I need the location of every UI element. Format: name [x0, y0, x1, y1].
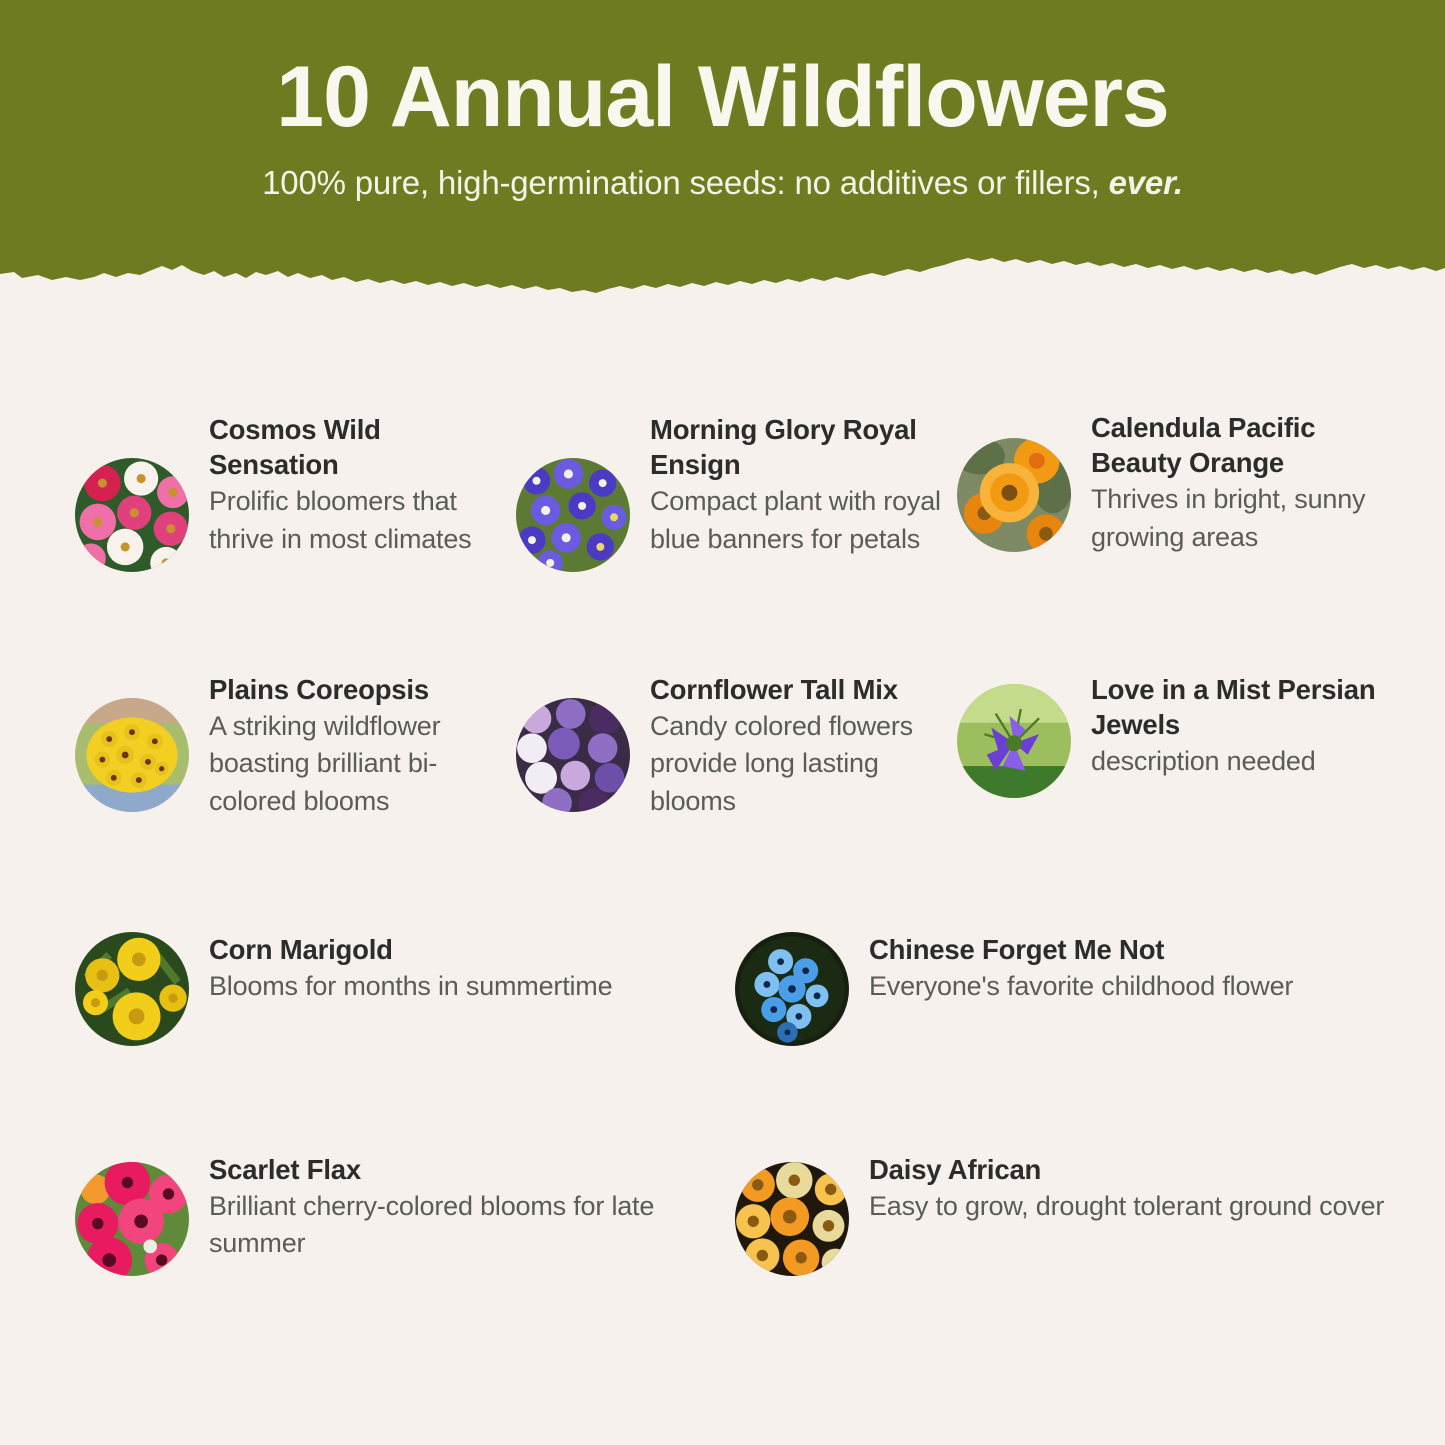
item-description: Candy colored flowers provide long lasti… — [650, 708, 957, 820]
list-item-text: Corn Marigold Blooms for months in summe… — [189, 930, 612, 1005]
list-item-text: Calendula Pacific Beauty Orange Thrives … — [1071, 410, 1398, 556]
page-title: 10 Annual Wildflowers — [0, 52, 1445, 142]
list-item[interactable]: Cosmos Wild Sensation Prolific bloomers … — [75, 410, 516, 572]
wildflower-row-4: Scarlet Flax Brilliant cherry-colored bl… — [0, 1150, 1445, 1276]
corn-marigold-photo — [75, 932, 189, 1046]
wildflower-row-1: Cosmos Wild Sensation Prolific bloomers … — [0, 410, 1445, 572]
header-banner-content: 10 Annual Wildflowers 100% pure, high-ge… — [0, 0, 1445, 202]
item-description: Everyone's favorite childhood flower — [869, 968, 1293, 1005]
item-name: Love in a Mist Persian Jewels — [1091, 672, 1398, 742]
plains-coreopsis-photo — [75, 698, 189, 812]
wildflower-list: Cosmos Wild Sensation Prolific bloomers … — [0, 300, 1445, 1445]
list-item-text: Love in a Mist Persian Jewels descriptio… — [1071, 670, 1398, 781]
page-subtitle: 100% pure, high-germination seeds: no ad… — [0, 164, 1445, 202]
item-name: Calendula Pacific Beauty Orange — [1091, 410, 1398, 480]
chinese-forget-me-not-photo — [735, 932, 849, 1046]
calendula-pacific-beauty-orange-photo — [957, 438, 1071, 552]
list-item-text: Chinese Forget Me Not Everyone's favorit… — [849, 930, 1293, 1005]
list-item-text: Plains Coreopsis A striking wildflower b… — [189, 670, 516, 820]
item-description: Blooms for months in summertime — [209, 968, 612, 1005]
header-banner: 10 Annual Wildflowers 100% pure, high-ge… — [0, 0, 1445, 300]
torn-paper-edge-divider — [0, 244, 1445, 300]
list-item-text: Cornflower Tall Mix Candy colored flower… — [630, 670, 957, 820]
item-name: Cornflower Tall Mix — [650, 672, 957, 707]
item-description: Prolific bloomers that thrive in most cl… — [209, 483, 516, 558]
item-description: Compact plant with royal blue banners fo… — [650, 483, 957, 558]
item-name: Morning Glory Royal Ensign — [650, 412, 957, 482]
list-item[interactable]: Daisy African Easy to grow, drought tole… — [735, 1150, 1395, 1276]
item-name: Chinese Forget Me Not — [869, 932, 1293, 967]
wildflower-row-2: Plains Coreopsis A striking wildflower b… — [0, 670, 1445, 820]
item-description: Thrives in bright, sunny growing areas — [1091, 481, 1398, 556]
list-item[interactable]: Morning Glory Royal Ensign Compact plant… — [516, 410, 957, 572]
list-item[interactable]: Plains Coreopsis A striking wildflower b… — [75, 670, 516, 820]
item-name: Scarlet Flax — [209, 1152, 735, 1187]
page-subtitle-emphasis: ever. — [1109, 164, 1183, 201]
list-item-text: Cosmos Wild Sensation Prolific bloomers … — [189, 410, 516, 558]
item-description: Easy to grow, drought tolerant ground co… — [869, 1188, 1384, 1225]
list-item[interactable]: Corn Marigold Blooms for months in summe… — [75, 930, 735, 1046]
list-item-text: Scarlet Flax Brilliant cherry-colored bl… — [189, 1150, 735, 1263]
morning-glory-royal-ensign-photo — [516, 458, 630, 572]
list-item[interactable]: Cornflower Tall Mix Candy colored flower… — [516, 670, 957, 820]
list-item[interactable]: Calendula Pacific Beauty Orange Thrives … — [957, 410, 1398, 572]
list-item[interactable]: Scarlet Flax Brilliant cherry-colored bl… — [75, 1150, 735, 1276]
daisy-african-photo — [735, 1162, 849, 1276]
scarlet-flax-photo — [75, 1162, 189, 1276]
love-in-a-mist-persian-jewels-photo — [957, 684, 1071, 798]
item-description: A striking wildflower boasting brilliant… — [209, 708, 516, 820]
list-item-text: Morning Glory Royal Ensign Compact plant… — [630, 410, 957, 558]
page-subtitle-text: 100% pure, high-germination seeds: no ad… — [262, 164, 1108, 201]
cosmos-wild-sensation-photo — [75, 458, 189, 572]
cornflower-tall-mix-photo — [516, 698, 630, 812]
item-name: Cosmos Wild Sensation — [209, 412, 516, 482]
item-name: Plains Coreopsis — [209, 672, 516, 707]
item-name: Corn Marigold — [209, 932, 612, 967]
item-description: Brilliant cherry-colored blooms for late… — [209, 1188, 735, 1263]
wildflower-row-3: Corn Marigold Blooms for months in summe… — [0, 930, 1445, 1046]
item-description: description needed — [1091, 743, 1398, 780]
list-item-text: Daisy African Easy to grow, drought tole… — [849, 1150, 1384, 1225]
item-name: Daisy African — [869, 1152, 1384, 1187]
list-item[interactable]: Chinese Forget Me Not Everyone's favorit… — [735, 930, 1395, 1046]
list-item[interactable]: Love in a Mist Persian Jewels descriptio… — [957, 670, 1398, 820]
